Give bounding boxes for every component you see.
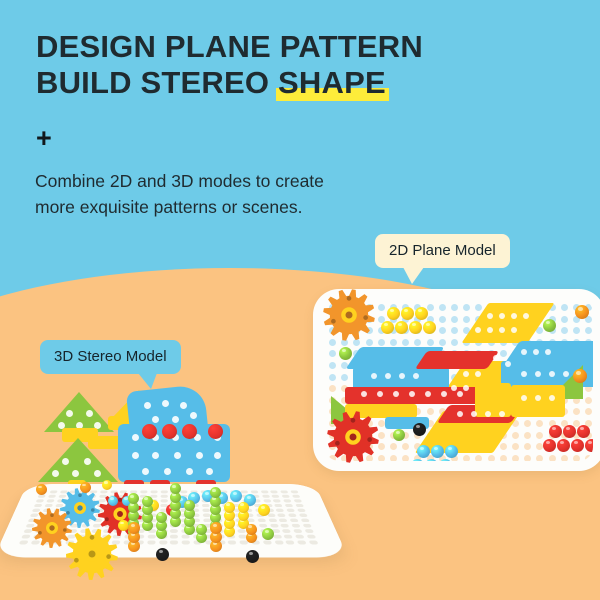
tile-screw-hole [441, 391, 447, 397]
peg-hole [378, 304, 385, 311]
round-peg [431, 445, 444, 458]
gear-red-bottom-left [327, 411, 379, 468]
peg-hole [585, 455, 592, 461]
round-peg [387, 307, 400, 320]
round-peg [571, 439, 584, 452]
title-line-2-plain: BUILD STEREO [36, 65, 278, 100]
peg-hole [536, 455, 543, 461]
peg-hole [439, 327, 446, 334]
tile-screw-hole [162, 400, 169, 407]
peg-hole [475, 304, 482, 311]
callout-2d-plane-model: 2D Plane Model [375, 234, 510, 268]
stacked-peg [246, 550, 259, 563]
page-title: DESIGN PLANE PATTERN BUILD STEREO SHAPE [36, 30, 576, 100]
tile-screw-hole [132, 452, 139, 459]
stacked-peg [80, 482, 91, 493]
peg-hole [427, 408, 434, 415]
tile-screw-hole [475, 371, 481, 377]
tile-screw-hole [457, 391, 463, 397]
peg-hole [414, 339, 421, 346]
round-peg [543, 439, 556, 452]
gear-yellow [66, 528, 118, 585]
tile-screw-hole [549, 395, 555, 401]
peg-hole [463, 455, 470, 461]
tile-screw-hole [174, 452, 181, 459]
tile-screw-hole [485, 411, 491, 417]
peg-hole [536, 432, 543, 439]
round-peg [423, 321, 436, 334]
peg-hole [500, 443, 507, 450]
peg-hole [561, 304, 568, 311]
tile-screw-hole [535, 371, 541, 377]
tile-screw-hole [471, 411, 477, 417]
callout-3d-label: 3D Stereo Model [54, 348, 167, 365]
tile-screw-hole [549, 371, 555, 377]
subtitle-line-2: more exquisite patterns or scenes. [35, 194, 455, 220]
tile-screw-hole [152, 416, 159, 423]
tile-screw-hole [533, 349, 539, 355]
peg-hole [427, 304, 434, 311]
tile-screw-hole [457, 411, 463, 417]
peg-hole [500, 350, 507, 357]
tile-screw-hole [521, 349, 527, 355]
2d-plane-pegboard[interactable] [313, 289, 600, 471]
peg-hole [390, 443, 397, 450]
mosaic-tile [415, 351, 499, 369]
peg-hole [463, 316, 470, 323]
title-highlight-word: SHAPE [278, 66, 386, 100]
round-peg [381, 321, 394, 334]
round-peg [585, 439, 593, 452]
3d-props-layer [0, 470, 340, 600]
stacked-peg [108, 496, 118, 506]
round-peg [409, 321, 422, 334]
tile-screw-hole [144, 402, 151, 409]
tile-screw-hole [214, 452, 221, 459]
tile-screw-hole [505, 361, 511, 367]
peg-hole [585, 408, 592, 415]
peg-hole [451, 339, 458, 346]
peg-hole [451, 304, 458, 311]
round-peg [573, 369, 587, 383]
tile-screw-hole [152, 452, 159, 459]
peg-hole [549, 455, 556, 461]
peg-hole [390, 455, 397, 461]
peg-hole [329, 362, 336, 369]
subtitle-line-1: Combine 2D and 3D modes to create [35, 168, 455, 194]
tile-screw-hole [487, 327, 493, 333]
tile-screw-hole [523, 313, 529, 319]
peg-hole [585, 327, 592, 334]
tile-screw-hole [451, 385, 457, 391]
peg-hole [439, 316, 446, 323]
peg-hole [585, 397, 592, 404]
title-line-2: BUILD STEREO SHAPE [36, 66, 576, 100]
round-peg [417, 445, 430, 458]
round-peg [543, 319, 556, 332]
stacked-peg [224, 502, 235, 513]
tile-screw-hole [511, 313, 517, 319]
stacked-peg [184, 500, 195, 511]
peg-hole [524, 443, 531, 450]
peg-hole [329, 350, 336, 357]
stacked-peg [262, 528, 274, 540]
stacked-peg [238, 502, 249, 513]
peg-hole [439, 339, 446, 346]
peg-hole [402, 443, 409, 450]
stacked-peg [156, 548, 169, 561]
round-peg [577, 425, 590, 438]
stacked-peg [230, 490, 242, 502]
round-peg [339, 347, 352, 360]
tile-screw-hole [84, 458, 91, 465]
stacked-peg [102, 480, 112, 490]
tile-screw-hole [66, 410, 73, 417]
tile-screw-hole [493, 355, 499, 361]
peg-hole [573, 455, 580, 461]
round-peg [575, 305, 589, 319]
animal-back-peg [162, 424, 177, 439]
peg-hole [524, 455, 531, 461]
tile-screw-hole [393, 391, 399, 397]
peg-hole [463, 304, 470, 311]
tile-screw-hole [545, 349, 551, 355]
stacked-peg [258, 504, 270, 516]
round-peg [393, 429, 405, 441]
round-peg [413, 423, 426, 436]
tile-screw-hole [361, 391, 367, 397]
peg-hole [378, 339, 385, 346]
tile-screw-hole [190, 412, 197, 419]
title-line-1: DESIGN PLANE PATTERN [36, 29, 423, 64]
peg-hole [402, 455, 409, 461]
animal-back-peg [182, 424, 197, 439]
peg-hole [427, 339, 434, 346]
animal-back-peg [142, 424, 157, 439]
tile-screw-hole [385, 373, 391, 379]
peg-hole [402, 339, 409, 346]
callout-3d-tail [138, 373, 157, 389]
tile-screw-hole [413, 373, 419, 379]
peg-hole [439, 304, 446, 311]
peg-hole [451, 327, 458, 334]
tile-screw-hole [521, 395, 527, 401]
tile-screw-hole [521, 371, 527, 377]
peg-hole [390, 339, 397, 346]
tile-screw-hole [463, 371, 469, 377]
peg-hole [341, 374, 348, 381]
round-peg [549, 425, 562, 438]
stacked-peg [196, 524, 207, 535]
peg-hole [500, 455, 507, 461]
peg-hole [488, 455, 495, 461]
tile-screw-hole [86, 410, 93, 417]
peg-hole [573, 327, 580, 334]
plus-sign: + [36, 125, 52, 152]
gear-orange-top-left [323, 289, 375, 346]
round-peg [395, 321, 408, 334]
peg-hole [561, 327, 568, 334]
peg-hole [475, 455, 482, 461]
stacked-peg [142, 496, 153, 507]
tile-screw-hole [196, 452, 203, 459]
peg-hole [524, 432, 531, 439]
peg-hole [512, 432, 519, 439]
peg-hole [512, 455, 519, 461]
tile-screw-hole [499, 327, 505, 333]
tile-screw-hole [463, 385, 469, 391]
round-peg [415, 307, 428, 320]
round-peg [401, 307, 414, 320]
mosaic-tile [511, 385, 565, 417]
tile-screw-hole [180, 402, 187, 409]
stacked-peg [36, 484, 47, 495]
peg-hole [512, 443, 519, 450]
tile-screw-hole [499, 411, 505, 417]
callout-2d-tail [403, 267, 424, 284]
tile-screw-hole [409, 391, 415, 397]
tile-screw-hole [399, 373, 405, 379]
mosaic-tile [475, 383, 511, 417]
round-peg [563, 425, 576, 438]
tile-screw-hole [487, 313, 493, 319]
peg-hole [329, 374, 336, 381]
animal-back-peg [208, 424, 223, 439]
round-peg [445, 445, 458, 458]
tile-screw-hole [511, 327, 517, 333]
peg-hole [524, 420, 531, 427]
callout-2d-label: 2D Plane Model [389, 242, 496, 259]
callout-3d-stereo-model: 3D Stereo Model [40, 340, 181, 374]
tile-screw-hole [475, 327, 481, 333]
tile-screw-hole [425, 391, 431, 397]
subtitle-text: Combine 2D and 3D modes to create more e… [35, 168, 455, 220]
tile-screw-hole [535, 395, 541, 401]
peg-hole [451, 316, 458, 323]
peg-hole [573, 408, 580, 415]
stacked-peg [156, 512, 167, 523]
tile-screw-hole [499, 313, 505, 319]
round-peg [557, 439, 570, 452]
tile-screw-hole [377, 391, 383, 397]
tile-screw-hole [172, 416, 179, 423]
tile-screw-hole [132, 434, 139, 441]
poster-canvas: DESIGN PLANE PATTERN BUILD STEREO SHAPE … [0, 0, 600, 600]
peg-hole [561, 316, 568, 323]
tile-screw-hole [563, 371, 569, 377]
stacked-peg [246, 524, 257, 535]
peg-hole [561, 455, 568, 461]
tile-screw-hole [62, 458, 69, 465]
peg-hole [536, 420, 543, 427]
tile-screw-hole [371, 373, 377, 379]
